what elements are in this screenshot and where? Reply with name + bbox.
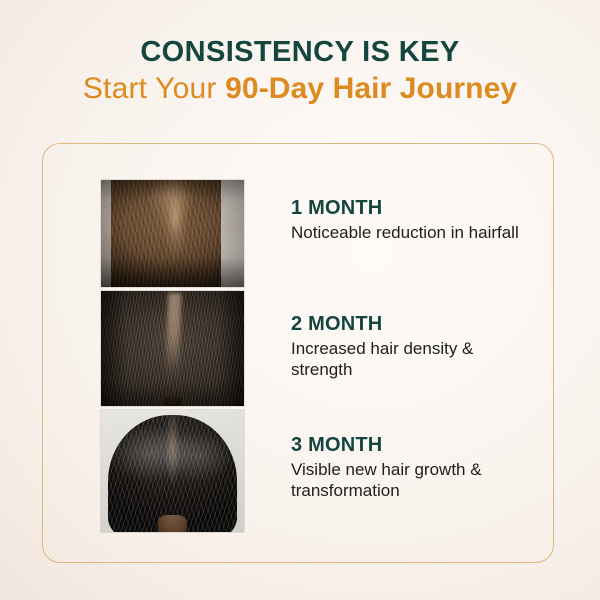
hair-journey-poster: CONSISTENCY IS KEY Start Your 90-Day Hai…: [0, 0, 600, 600]
progress-photo-month-2: [101, 291, 244, 406]
milestone-title-month-3: 3 MONTH: [291, 435, 551, 455]
milestone-item-month-1: 1 MONTH Noticeable reduction in hairfall: [291, 198, 551, 243]
milestone-description-month-2: Increased hair density & strength: [291, 338, 521, 380]
milestone-description-month-3: Visible new hair growth & transformation: [291, 459, 521, 501]
progress-photo-month-3: [101, 410, 244, 532]
milestone-item-month-3: 3 MONTH Visible new hair growth & transf…: [291, 435, 551, 501]
milestone-title-month-1: 1 MONTH: [291, 198, 551, 218]
milestone-title-month-2: 2 MONTH: [291, 314, 551, 334]
milestone-description-month-1: Noticeable reduction in hairfall: [291, 222, 521, 243]
progress-photo-column: [101, 180, 244, 532]
milestone-item-month-2: 2 MONTH Increased hair density & strengt…: [291, 314, 551, 380]
progress-photo-month-1: [101, 180, 244, 287]
poster-content: 1 MONTH Noticeable reduction in hairfall…: [0, 0, 600, 600]
